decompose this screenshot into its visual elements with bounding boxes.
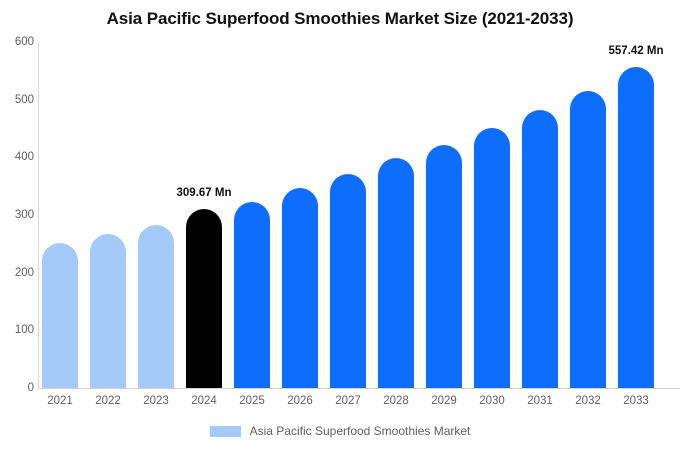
value-label-2033: 557.42 Mn — [609, 45, 664, 57]
x-axis-tick-label: 2022 — [95, 395, 121, 407]
bar-2023[interactable] — [138, 225, 174, 388]
x-axis-tick-label: 2023 — [143, 395, 169, 407]
x-axis-tick-label: 2032 — [575, 395, 601, 407]
value-label-2024: 309.67 Mn — [177, 187, 232, 199]
bar-2029[interactable] — [426, 145, 462, 388]
y-axis-tick-label: 300 — [4, 209, 34, 221]
legend-swatch — [210, 426, 241, 437]
bar-2026[interactable] — [282, 188, 318, 388]
bar-2027[interactable] — [330, 174, 366, 388]
x-axis-tick-labels: 2021202220232024202520262027202820292030… — [38, 395, 680, 415]
bar-2024[interactable] — [186, 209, 222, 388]
legend-label: Asia Pacific Superfood Smoothies Market — [250, 424, 471, 438]
bar-chart: Asia Pacific Superfood Smoothies Market … — [0, 0, 680, 450]
x-axis-tick-label: 2029 — [431, 395, 457, 407]
y-axis-tick-label: 500 — [4, 94, 34, 106]
y-axis-tick-label: 0 — [4, 382, 34, 394]
bar-2033[interactable] — [618, 67, 654, 388]
x-axis-line — [38, 388, 680, 389]
bar-2021[interactable] — [42, 243, 78, 388]
bar-2032[interactable] — [570, 91, 606, 388]
y-axis-tick-label: 200 — [4, 267, 34, 279]
x-axis-tick-label: 2033 — [623, 395, 649, 407]
x-axis-tick-label: 2031 — [527, 395, 553, 407]
x-axis-tick-label: 2028 — [383, 395, 409, 407]
bar-2031[interactable] — [522, 110, 558, 388]
chart-title: Asia Pacific Superfood Smoothies Market … — [0, 9, 680, 29]
x-axis-tick-label: 2026 — [287, 395, 313, 407]
x-axis-tick-label: 2027 — [335, 395, 361, 407]
bar-2028[interactable] — [378, 158, 414, 388]
x-axis-tick-label: 2024 — [191, 395, 217, 407]
bar-series — [38, 42, 680, 388]
chart-legend: Asia Pacific Superfood Smoothies Market — [0, 424, 680, 438]
bar-2022[interactable] — [90, 234, 126, 388]
y-axis-tick-label: 600 — [4, 36, 34, 48]
x-axis-tick-label: 2021 — [47, 395, 73, 407]
y-axis-tick-label: 400 — [4, 151, 34, 163]
y-axis-tick-labels: 0100200300400500600 — [0, 0, 34, 450]
x-axis-tick-label: 2030 — [479, 395, 505, 407]
y-axis-tick-label: 100 — [4, 324, 34, 336]
x-axis-tick-label: 2025 — [239, 395, 265, 407]
bar-2030[interactable] — [474, 128, 510, 388]
bar-2025[interactable] — [234, 202, 270, 388]
